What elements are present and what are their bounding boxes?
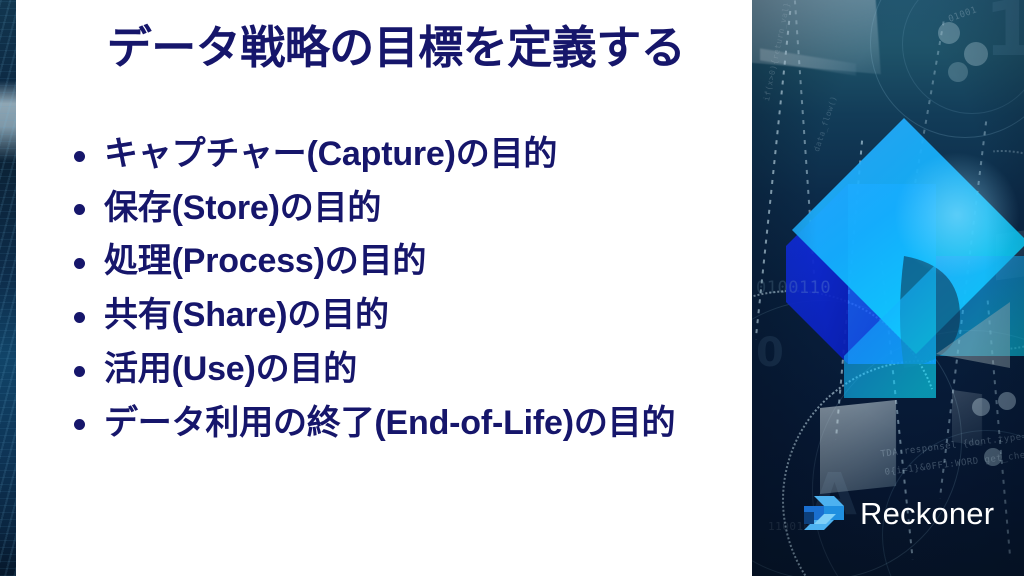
objectives-bullet-list: キャプチャー(Capture)の目的 保存(Store)の目的 処理(Proce…	[56, 128, 746, 450]
list-item: データ利用の終了(End-of-Life)の目的	[56, 397, 746, 451]
person-silhouette-icon	[938, 22, 960, 47]
list-item: キャプチャー(Capture)の目的	[56, 128, 746, 182]
bullet-dot-icon	[74, 366, 85, 377]
list-item: 処理(Process)の目的	[56, 235, 746, 289]
bullet-dot-icon	[74, 312, 85, 323]
bullet-dot-icon	[74, 258, 85, 269]
decor-number: 10	[984, 0, 1024, 73]
reckoner-cube-icon	[800, 492, 846, 534]
slide-content-area: データ戦略の目標を定義する キャプチャー(Capture)の目的 保存(Stor…	[16, 0, 752, 576]
list-item-label: キャプチャー(Capture)の目的	[104, 135, 557, 173]
bullet-dot-icon	[74, 151, 85, 162]
bullet-dot-icon	[74, 204, 85, 215]
page-title: データ戦略の目標を定義する	[66, 22, 726, 74]
list-item-label: データ利用の終了(End-of-Life)の目的	[104, 404, 675, 442]
left-edge-decor-strip	[0, 0, 16, 576]
brand-name-text: Reckoner	[860, 498, 994, 529]
list-item: 保存(Store)の目的	[56, 182, 746, 236]
list-item-label: 活用(Use)の目的	[104, 350, 357, 388]
brand-lockup: Reckoner	[800, 492, 994, 534]
list-item-label: 共有(Share)の目的	[104, 296, 389, 334]
reckoner-logo-mark-large	[786, 106, 1024, 406]
bullet-dot-icon	[74, 419, 85, 430]
decor-code-text: 0100110	[756, 278, 831, 298]
list-item-label: 保存(Store)の目的	[104, 189, 381, 227]
list-item: 活用(Use)の目的	[56, 343, 746, 397]
screen-pane-decor	[820, 400, 896, 494]
list-item-label: 処理(Process)の目的	[104, 242, 426, 280]
decor-number: 0	[756, 330, 784, 376]
presentation-slide: データ戦略の目標を定義する キャプチャー(Capture)の目的 保存(Stor…	[0, 0, 1024, 576]
person-silhouette-icon	[948, 62, 968, 84]
brand-image-panel: 10 A 0	[752, 0, 1024, 576]
list-item: 共有(Share)の目的	[56, 289, 746, 343]
